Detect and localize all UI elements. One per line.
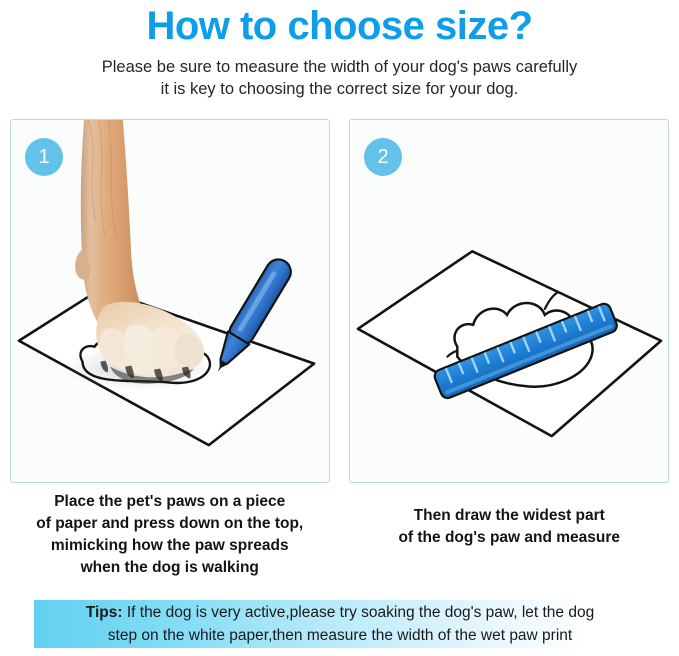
caption-line: of the dog's paw and measure [346, 527, 674, 549]
ruler-measuring-illustration [350, 120, 668, 482]
step-badge-1: 1 [25, 138, 63, 176]
tips-label: Tips: [86, 604, 123, 621]
tips-line-2: step on the white paper,then measure the… [26, 624, 654, 647]
step-panel-1: 1 [10, 119, 330, 483]
caption-line: Place the pet's paws on a piece [6, 491, 334, 513]
step-captions: Place the pet's paws on a piece of paper… [0, 487, 679, 587]
tips-line-1-rest: If the dog is very active,please try soa… [123, 604, 595, 621]
caption-line: Then draw the widest part [346, 505, 674, 527]
subtitle-line-1: Please be sure to measure the width of y… [48, 56, 631, 78]
tips-banner: Tips: If the dog is very active,please t… [26, 598, 654, 650]
tips-text: Tips: If the dog is very active,please t… [26, 598, 654, 648]
caption-line: mimicking how the paw spreads [6, 535, 334, 557]
caption-step-2: Then draw the widest part of the dog's p… [340, 487, 679, 587]
caption-line: of paper and press down on the top, [6, 513, 334, 535]
paw-on-paper-illustration [11, 120, 329, 482]
caption-line: when the dog is walking [6, 557, 334, 579]
step-badge-2: 2 [364, 138, 402, 176]
caption-step-1: Place the pet's paws on a piece of paper… [0, 487, 340, 587]
subtitle-line-2: it is key to choosing the correct size f… [48, 78, 631, 100]
step-panel-2: 2 [349, 119, 669, 483]
page-subtitle: Please be sure to measure the width of y… [0, 56, 679, 101]
header: How to choose size? Please be sure to me… [0, 0, 679, 101]
page-title: How to choose size? [0, 2, 679, 48]
tips-line-1: Tips: If the dog is very active,please t… [26, 601, 654, 624]
step-panels: 1 [0, 119, 679, 485]
